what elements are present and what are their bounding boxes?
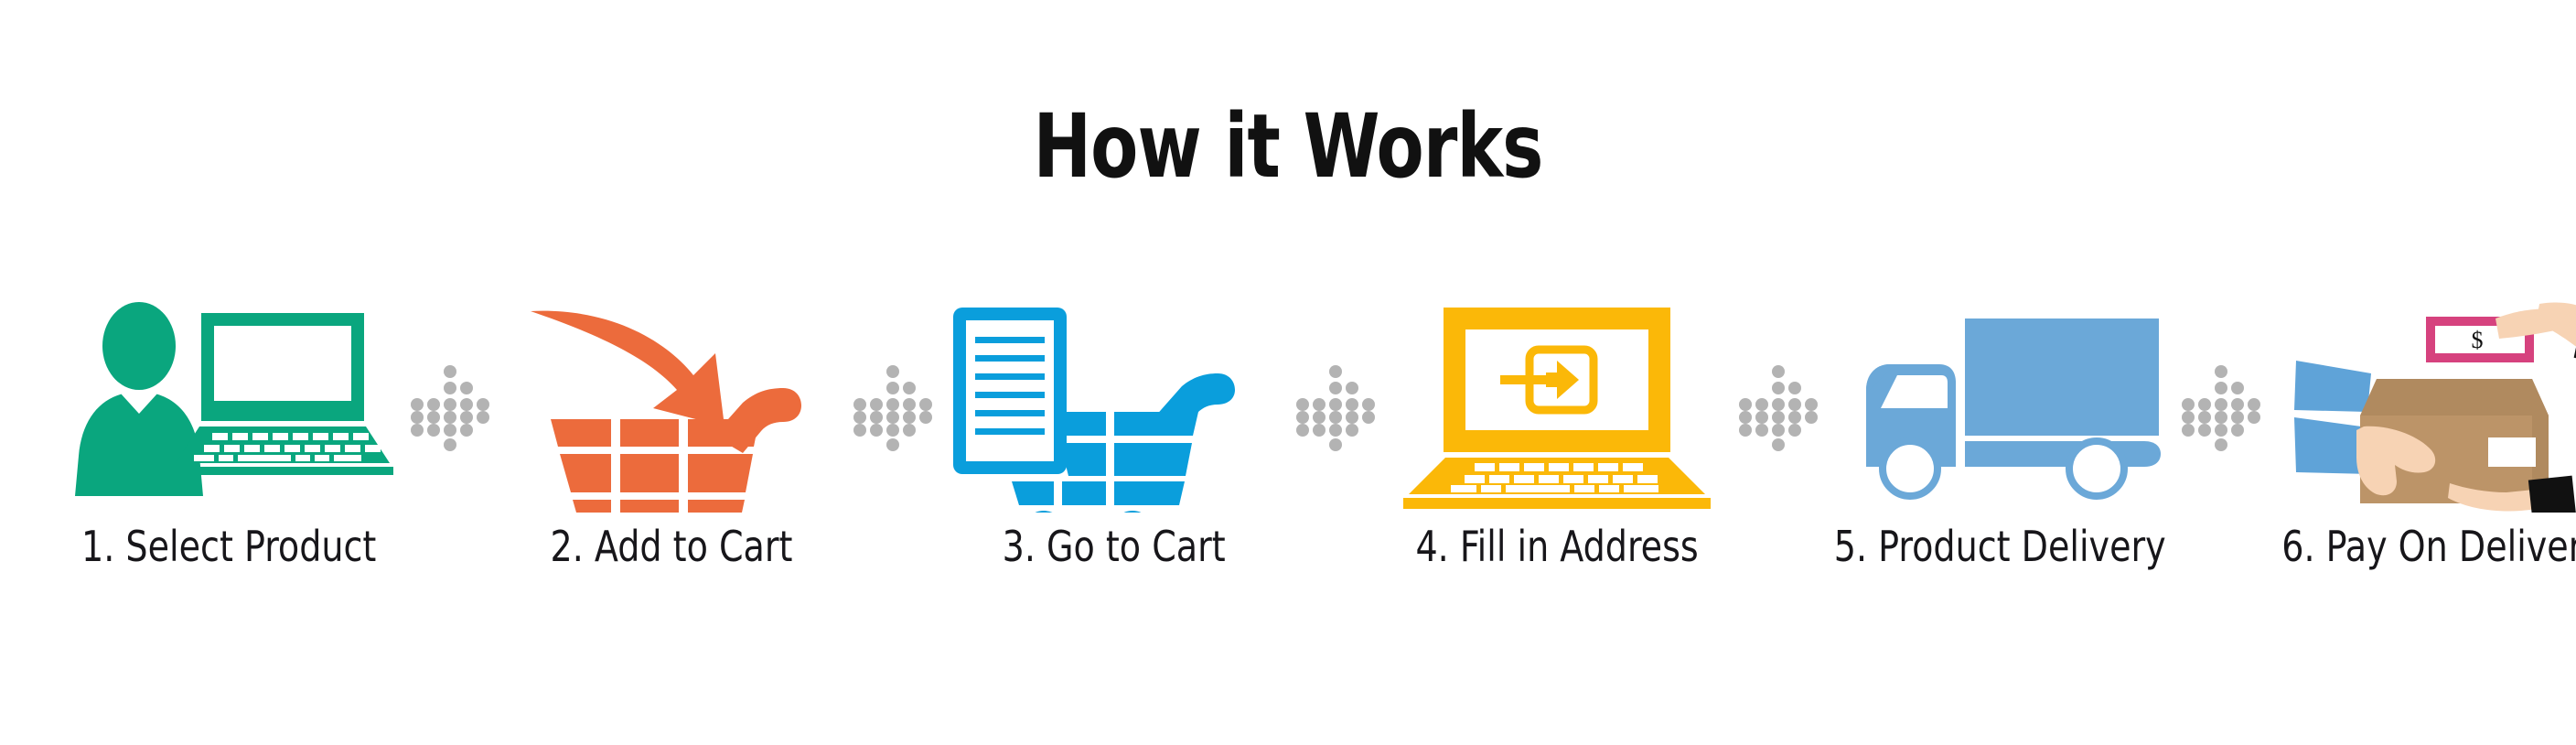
step-5-product-delivery[interactable]: 5. Product Delivery — [1826, 302, 2173, 604]
laptop-with-enter-arrow-graphic — [1383, 302, 1731, 513]
step-label: 1. Select Product — [81, 522, 376, 571]
dotted-arrow-right-icon — [402, 302, 498, 513]
step-1-select-product[interactable]: 1. Select Product — [55, 302, 402, 604]
step-label: 6. Pay On Delivery — [2281, 522, 2576, 571]
dotted-arrow-graphic — [1734, 364, 1822, 452]
dotted-arrow-right-icon — [2173, 302, 2269, 513]
page-title: How it Works — [155, 99, 2421, 194]
document-and-cart-graphic — [940, 302, 1288, 513]
shipping-label — [2488, 437, 2536, 467]
delivery-truck-icon — [1826, 302, 2173, 513]
step-4-fill-in-address[interactable]: 4. Fill in Address — [1383, 302, 1731, 604]
cash-on-delivery-icon: $ — [2269, 302, 2576, 513]
dotted-arrow-right-icon — [1288, 302, 1383, 513]
how-it-works-infographic: How it Works — [0, 0, 2576, 745]
dotted-arrow-right-icon — [1731, 302, 1826, 513]
laptop-login-icon — [1383, 302, 1731, 513]
step-label: 4. Fill in Address — [1415, 522, 1698, 571]
step-label: 5. Product Delivery — [1834, 522, 2166, 571]
truck-graphic — [1826, 302, 2173, 513]
dotted-arrow-graphic — [2177, 364, 2265, 452]
document-with-cart-icon — [940, 302, 1288, 513]
person-with-laptop-graphic — [55, 302, 402, 513]
money-symbol: $ — [2472, 327, 2484, 353]
hands-box-money-graphic: $ — [2269, 302, 2576, 513]
dotted-arrow-right-icon — [845, 302, 940, 513]
steps-row: 1. Select Product — [55, 302, 2525, 604]
shopping-cart-with-arrow-icon — [498, 302, 845, 513]
dotted-arrow-graphic — [1292, 364, 1379, 452]
step-label: 2. Add to Cart — [551, 522, 793, 571]
cart-with-curved-arrow-graphic — [498, 302, 845, 513]
step-6-pay-on-delivery[interactable]: $ — [2269, 302, 2576, 604]
person-with-laptop-icon — [55, 302, 402, 513]
step-label: 3. Go to Cart — [1003, 522, 1226, 571]
step-3-go-to-cart[interactable]: 3. Go to Cart — [940, 302, 1288, 604]
dotted-arrow-graphic — [849, 364, 937, 452]
step-2-add-to-cart[interactable]: 2. Add to Cart — [498, 302, 845, 604]
dotted-arrow-graphic — [406, 364, 494, 452]
